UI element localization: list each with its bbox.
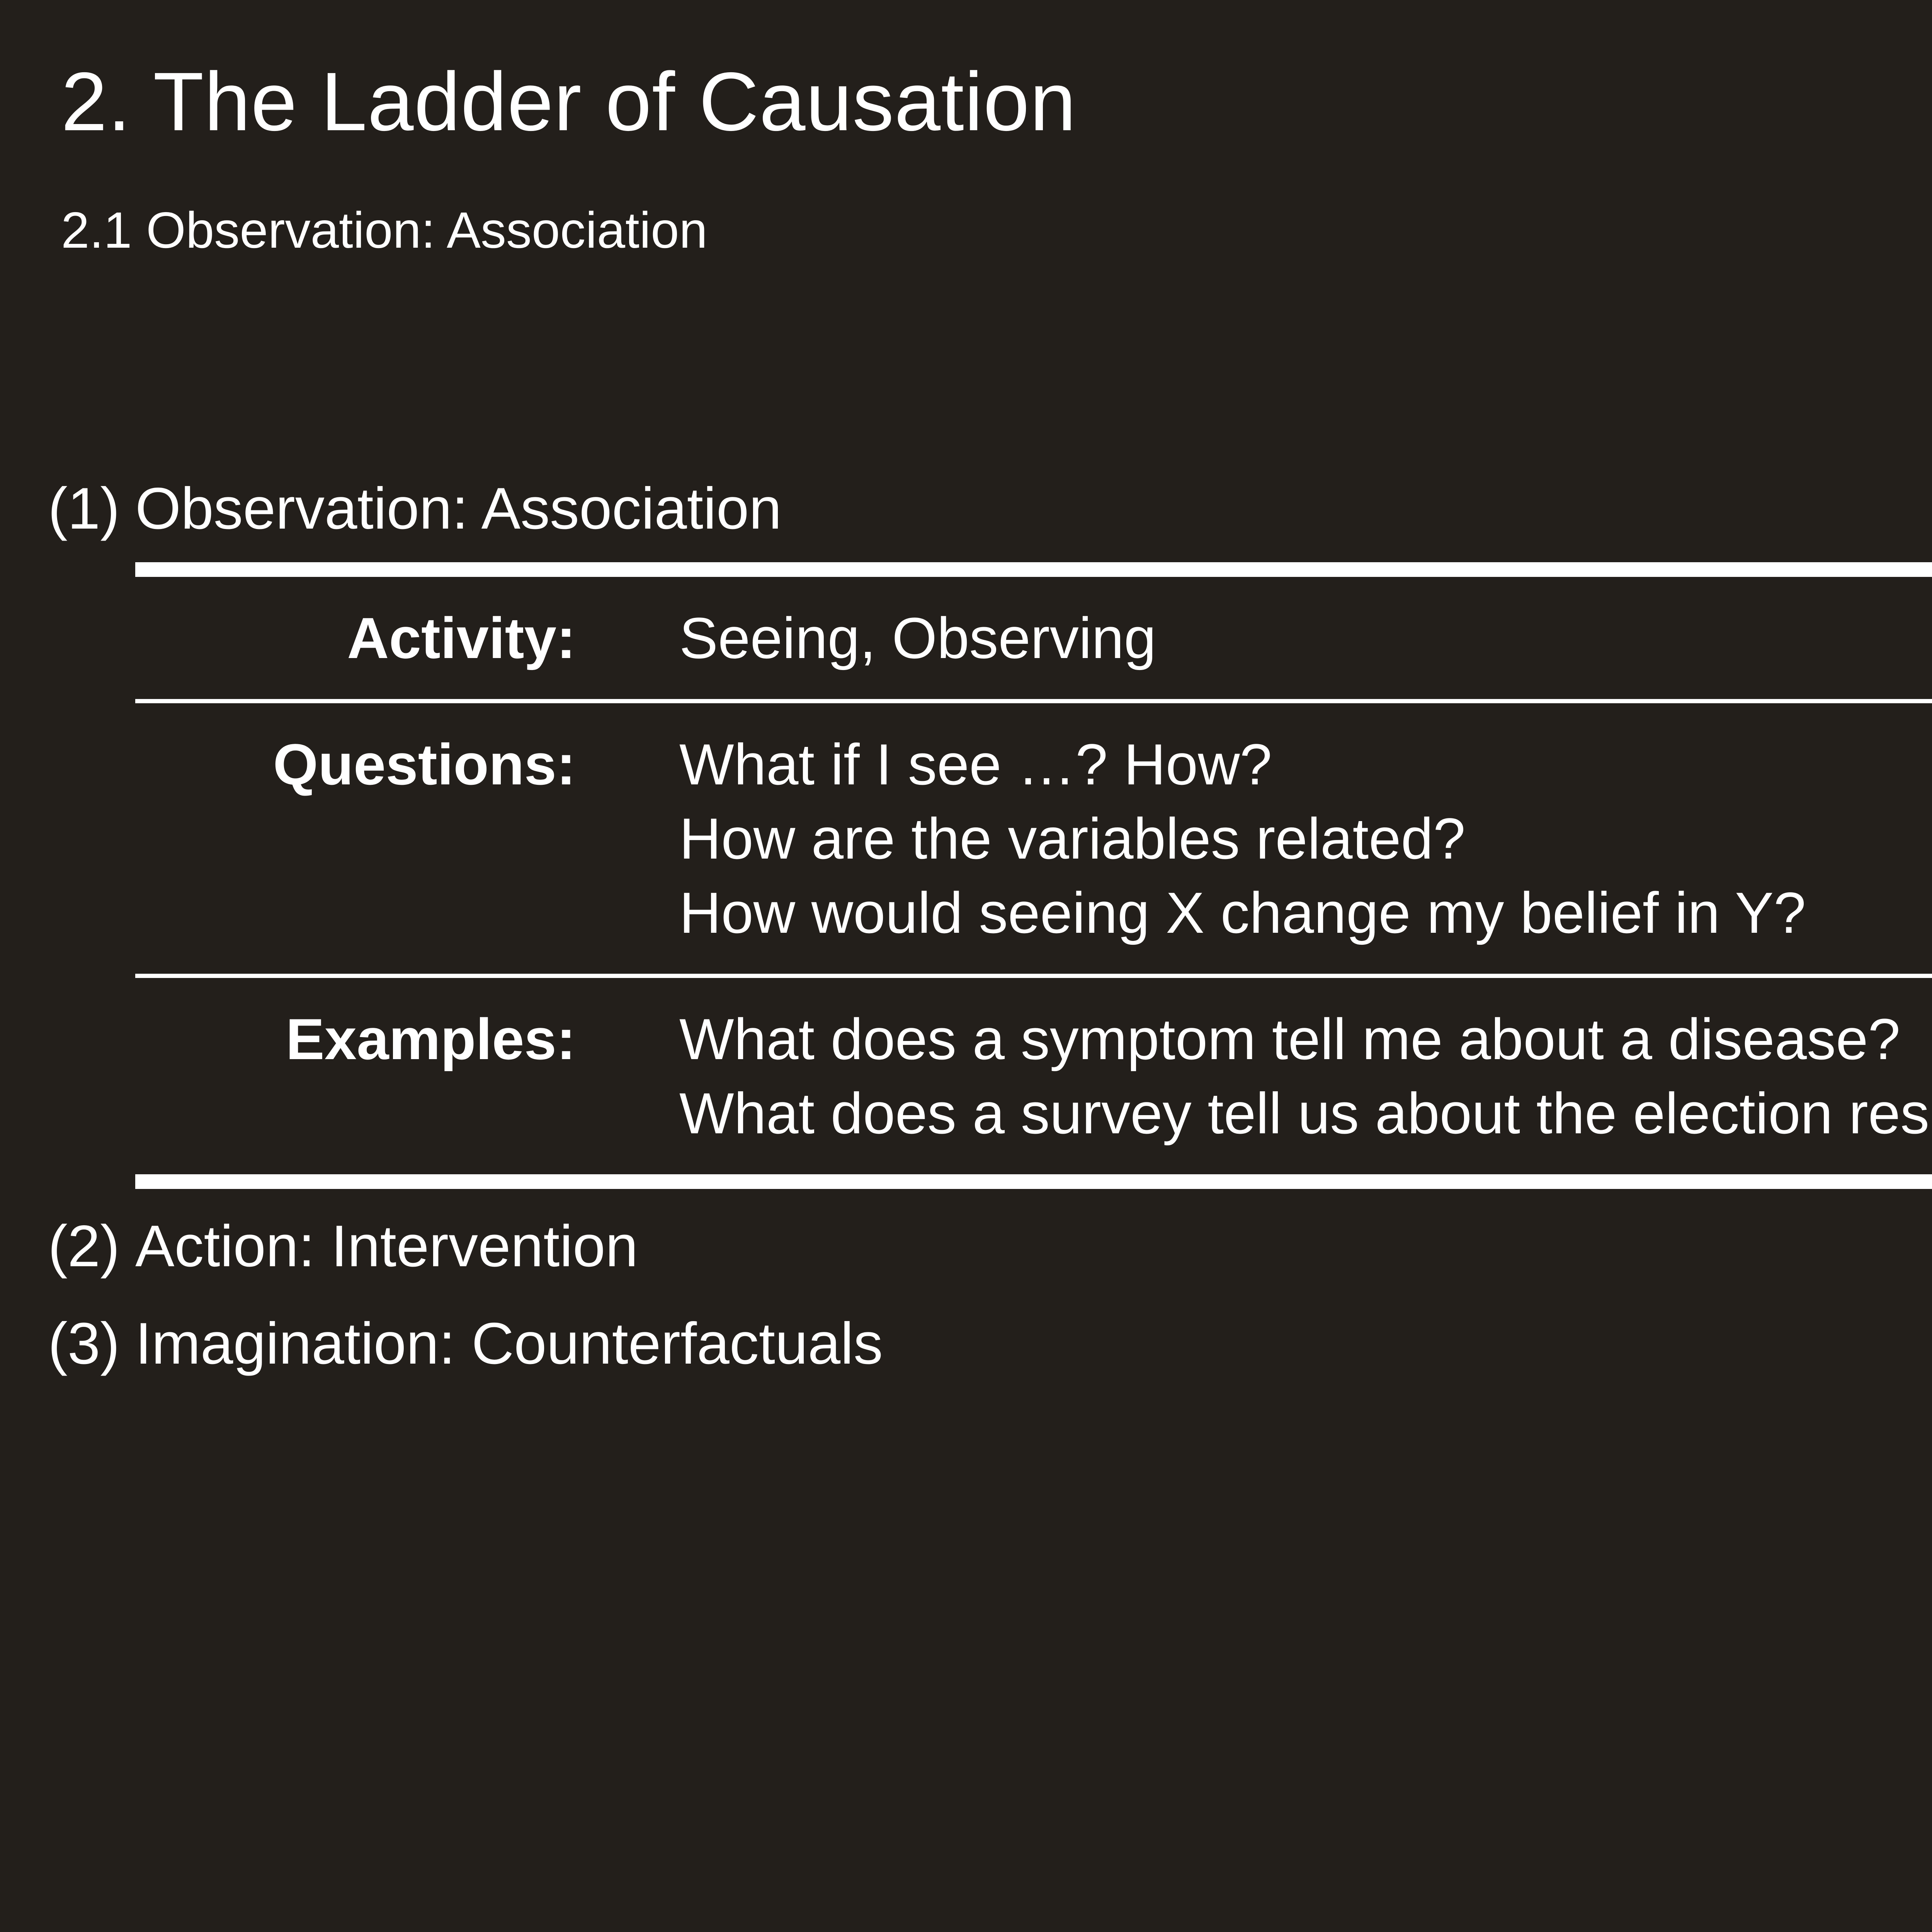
list-item-label: Action: Intervention <box>135 1213 1932 1280</box>
row-value-examples: What does a symptom tell me about a dise… <box>576 976 1932 1182</box>
beamer-slide: 2. The Ladder of Causation 2.1 Observati… <box>0 0 1932 1932</box>
value-line: Seeing, Observing <box>679 601 1932 675</box>
observation-table: Activity: Seeing, Observing Questions: W… <box>135 562 1932 1189</box>
value-line: How would seeing X change my belief in Y… <box>679 876 1932 950</box>
ladder-table-wrapper: Activity: Seeing, Observing Questions: W… <box>135 562 1932 1189</box>
list-item-label: Observation: Association <box>135 475 1932 542</box>
list-item: (2) Action: Intervention <box>0 1213 1932 1280</box>
list-item-body: Observation: Association Activity: Seein… <box>135 475 1932 1189</box>
table-row: Examples: What does a symptom tell me ab… <box>135 976 1932 1182</box>
row-value-questions: What if I see …? How? How are the variab… <box>576 701 1932 976</box>
row-label-activity: Activity: <box>135 570 576 701</box>
list-item-label: Imagination: Counterfactuals <box>135 1310 1932 1377</box>
value-line: What does a survey tell us about the ele… <box>679 1076 1932 1150</box>
row-label-examples: Examples: <box>135 976 576 1182</box>
page-title: 2. The Ladder of Causation <box>61 60 1077 143</box>
value-line: What if I see …? How? <box>679 727 1932 801</box>
value-line: How are the variables related? <box>679 801 1932 876</box>
list-item-number: (2) <box>0 1213 135 1280</box>
list-item-number: (3) <box>0 1310 135 1377</box>
list-item: (3) Imagination: Counterfactuals <box>0 1310 1932 1377</box>
row-value-activity: Seeing, Observing <box>576 570 1932 701</box>
ladder-list: (1) Observation: Association Activity: S… <box>0 475 1932 1377</box>
row-label-questions: Questions: <box>135 701 576 976</box>
list-item: (1) Observation: Association Activity: S… <box>0 475 1932 1189</box>
frame-subtitle: 2.1 Observation: Association <box>61 205 707 256</box>
table-row: Activity: Seeing, Observing <box>135 570 1932 701</box>
table-row: Questions: What if I see …? How? How are… <box>135 701 1932 976</box>
value-line: What does a symptom tell me about a dise… <box>679 1002 1932 1076</box>
list-item-number: (1) <box>0 475 135 542</box>
